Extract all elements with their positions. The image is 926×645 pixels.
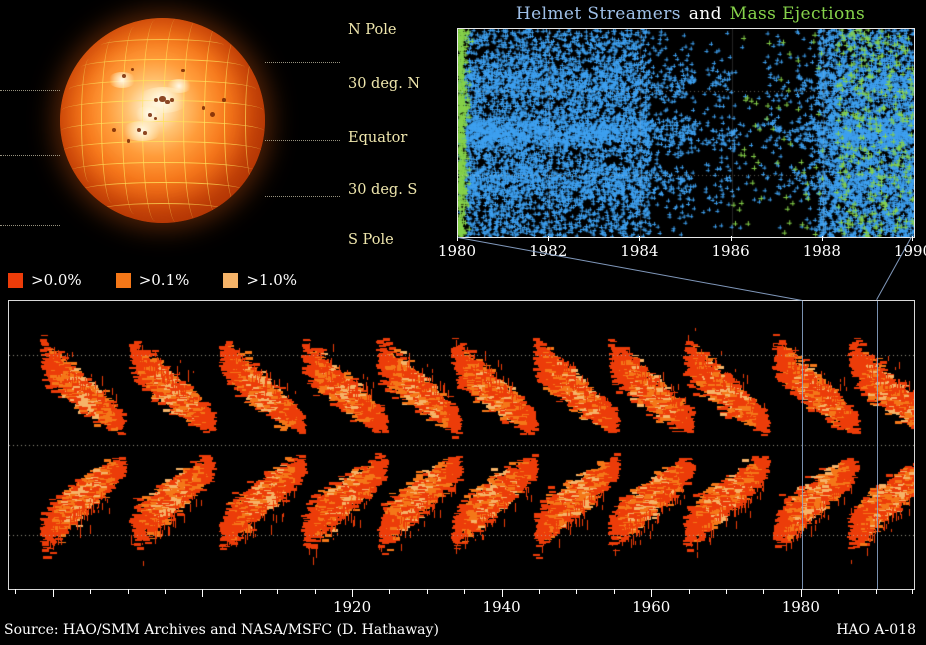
x-minor-tick	[876, 589, 877, 594]
latitude-guide-line	[265, 62, 340, 63]
latitude-guide-line	[265, 196, 340, 197]
x-major-tick	[801, 589, 802, 597]
longitude-line	[224, 39, 246, 203]
x-minor-tick	[726, 589, 727, 594]
title-part-and: and	[688, 4, 723, 24]
sunspot	[181, 69, 184, 72]
legend-item-1: >0.1%	[116, 271, 190, 289]
solar-disk-image	[0, 0, 340, 262]
sun-grid-overlay	[60, 18, 265, 223]
highlight-line-1990	[877, 301, 878, 589]
x-tick	[548, 236, 549, 241]
active-region	[122, 121, 162, 141]
x-minor-tick	[539, 589, 540, 594]
source-note: Source: HAO/SMM Archives and NASA/MSFC (…	[4, 622, 439, 638]
x-minor-tick	[90, 589, 91, 594]
x-tick-label: 1984	[620, 242, 658, 260]
x-major-tick	[202, 589, 203, 597]
x-major-tick	[53, 589, 54, 597]
legend-label: >0.1%	[139, 271, 190, 289]
latitude-label-0: N Pole	[348, 22, 458, 38]
legend-swatch	[8, 273, 23, 288]
x-minor-tick	[15, 589, 16, 594]
x-minor-tick	[614, 589, 615, 594]
legend-item-0: >0.0%	[8, 271, 82, 289]
x-tick-label: 1986	[712, 242, 750, 260]
x-tick-label: 1940	[483, 598, 521, 616]
butterfly-canvas	[9, 301, 914, 589]
latitude-guide-line	[0, 155, 60, 156]
title-part-ejections: Mass Ejections	[729, 4, 866, 24]
legend-item-2: >1.0%	[223, 271, 297, 289]
x-minor-tick	[128, 589, 129, 594]
top-panel-title: Helmet Streamers and Mass Ejections	[455, 4, 926, 26]
latitude-label-2: Equator	[348, 130, 458, 146]
latitude-label-3: 30 deg. S	[348, 182, 458, 198]
x-minor-tick	[427, 589, 428, 594]
x-tick	[731, 236, 732, 241]
title-part-streamers: Helmet Streamers	[515, 4, 682, 24]
x-major-tick	[502, 589, 503, 597]
x-major-tick	[651, 589, 652, 597]
x-minor-tick	[912, 589, 913, 594]
sun-sphere	[60, 18, 265, 223]
latitude-guide-line	[265, 140, 340, 141]
x-minor-tick	[763, 589, 764, 594]
x-minor-tick	[389, 589, 390, 594]
sunspot	[127, 139, 130, 142]
x-minor-tick	[315, 589, 316, 594]
sunspot	[137, 128, 141, 132]
butterfly-x-axis: 1920194019601980	[8, 589, 913, 619]
x-tick-label: 1960	[632, 598, 670, 616]
sunspot	[170, 98, 174, 102]
active-region	[166, 79, 192, 93]
x-minor-tick	[464, 589, 465, 594]
x-minor-tick	[240, 589, 241, 594]
latitude-label-1: 30 deg. N	[348, 76, 458, 92]
figure-id: HAO A-018	[836, 622, 916, 638]
butterfly-diagram	[8, 300, 915, 590]
x-minor-tick	[838, 589, 839, 594]
latitude-guide-line	[0, 225, 60, 226]
latitude-line	[101, 203, 224, 216]
x-minor-tick	[689, 589, 690, 594]
sunspot	[222, 98, 226, 102]
x-minor-tick	[277, 589, 278, 594]
x-tick-label: 1980	[438, 242, 476, 260]
x-tick-label: 1980	[782, 598, 820, 616]
sunspot	[154, 117, 157, 120]
longitude-line	[245, 59, 262, 182]
latitude-guide-line	[0, 90, 60, 91]
x-tick	[912, 236, 913, 241]
x-minor-tick	[576, 589, 577, 594]
x-major-tick	[352, 589, 353, 597]
legend-label: >1.0%	[246, 271, 297, 289]
area-legend: >0.0%>0.1%>1.0%	[8, 270, 331, 290]
scatter-canvas	[458, 29, 914, 237]
x-minor-tick	[165, 589, 166, 594]
longitude-line	[81, 59, 98, 182]
sunspot	[143, 131, 147, 135]
x-tick	[822, 236, 823, 241]
legend-label: >0.0%	[31, 271, 82, 289]
x-tick-label: 1920	[333, 598, 371, 616]
legend-swatch	[223, 273, 238, 288]
x-tick	[639, 236, 640, 241]
longitude-line	[101, 39, 123, 203]
highlight-line-1980	[802, 301, 803, 589]
x-tick-label: 1988	[803, 242, 841, 260]
streamers-ejections-scatter-plot	[457, 28, 915, 238]
legend-swatch	[116, 273, 131, 288]
